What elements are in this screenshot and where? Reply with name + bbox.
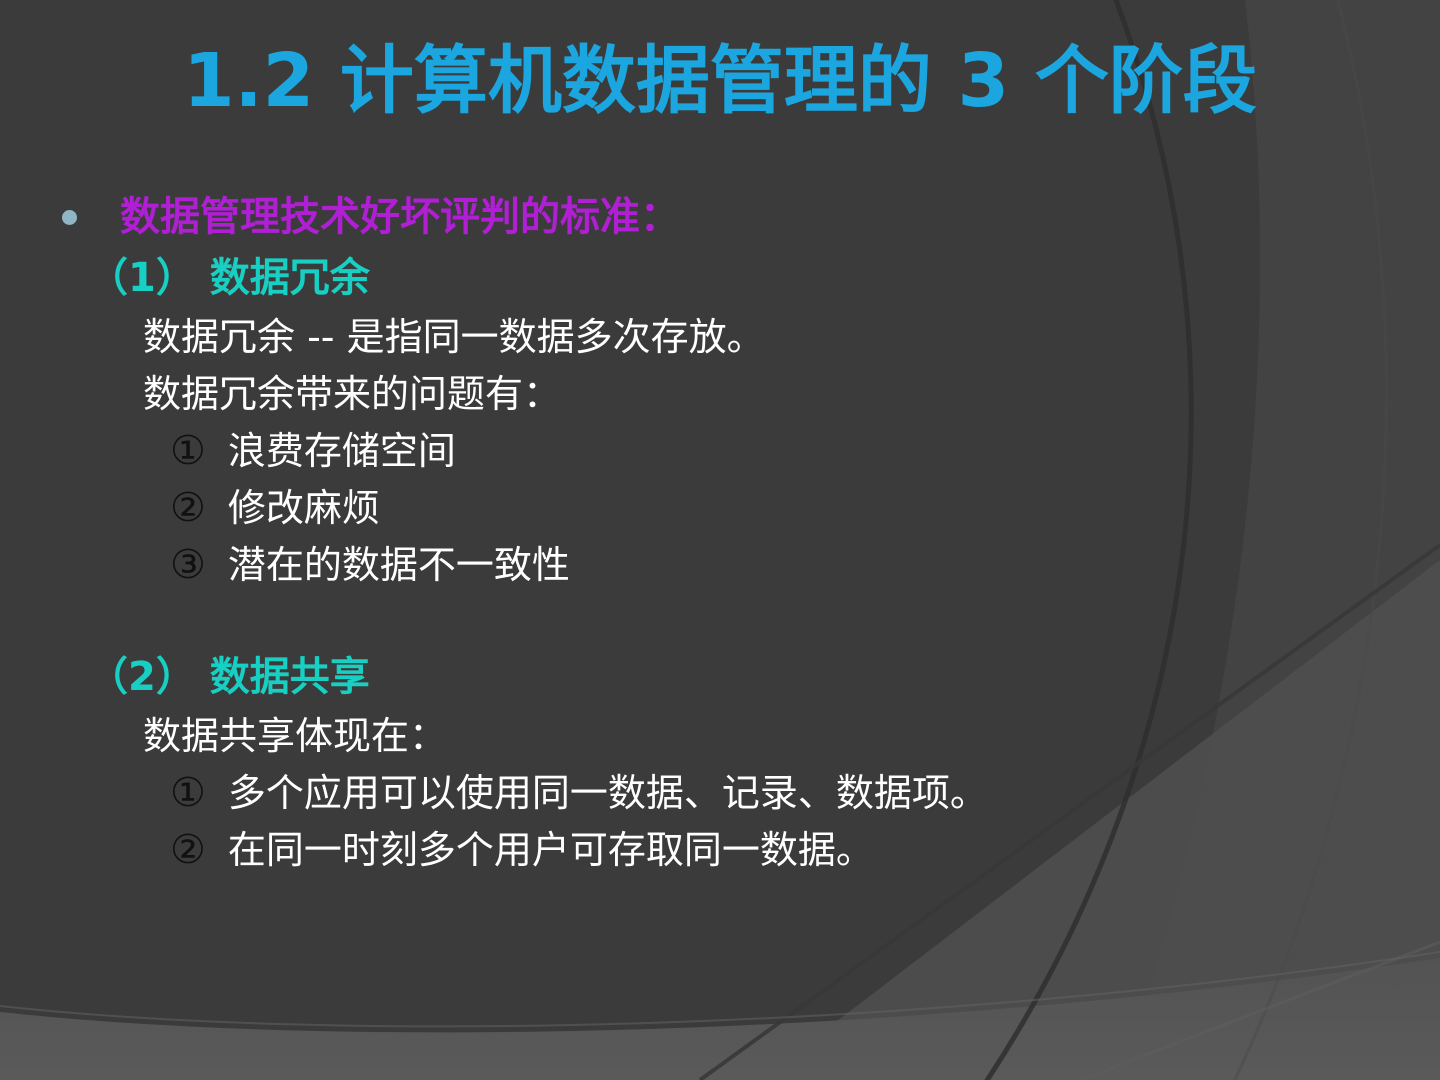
list-item-text: 在同一时刻多个用户可存取同一数据。 (228, 831, 874, 869)
section-heading-1-text: （1） 数据冗余 (88, 258, 370, 298)
page-title: 1.2 计算机数据管理的 3 个阶段 (0, 44, 1440, 118)
section-heading-1: （1） 数据冗余 (0, 248, 1440, 308)
section-1-paragraph-2: 数据冗余带来的问题有： (0, 365, 1440, 422)
list-item-text: 浪费存储空间 (228, 432, 456, 470)
section-1-paragraph-2-text: 数据冗余带来的问题有： (143, 375, 561, 413)
list-item-text: 潜在的数据不一致性 (228, 546, 570, 584)
section-2-paragraph-1: 数据共享体现在： (0, 707, 1440, 764)
bullet-heading-line: 数据管理技术好坏评判的标准： (0, 186, 1440, 248)
list-item: ③ 潜在的数据不一致性 (0, 536, 1440, 593)
circled-number-1-icon: ① (170, 431, 206, 471)
list-item: ① 多个应用可以使用同一数据、记录、数据项。 (0, 764, 1440, 821)
circled-number-3-icon: ③ (170, 545, 206, 585)
section-1-paragraph-1-text: 数据冗余 -- 是指同一数据多次存放。 (143, 318, 765, 356)
paragraph-spacer (0, 593, 1440, 647)
section-heading-2-text: （2） 数据共享 (88, 657, 370, 697)
list-item-text: 修改麻烦 (228, 489, 380, 527)
list-item: ① 浪费存储空间 (0, 422, 1440, 479)
circled-number-2-icon: ② (170, 488, 206, 528)
list-item: ② 修改麻烦 (0, 479, 1440, 536)
bullet-heading-text: 数据管理技术好坏评判的标准： (120, 197, 680, 237)
section-1-paragraph-1: 数据冗余 -- 是指同一数据多次存放。 (0, 308, 1440, 365)
slide-body: 数据管理技术好坏评判的标准： （1） 数据冗余 数据冗余 -- 是指同一数据多次… (0, 186, 1440, 878)
slide-canvas: 1.2 计算机数据管理的 3 个阶段 数据管理技术好坏评判的标准： （1） 数据… (0, 0, 1440, 1080)
circled-number-1-icon: ① (170, 773, 206, 813)
section-2-paragraph-1-text: 数据共享体现在： (143, 717, 447, 755)
bullet-dot-icon (62, 210, 77, 225)
circled-number-2-icon: ② (170, 830, 206, 870)
section-heading-2: （2） 数据共享 (0, 647, 1440, 707)
list-item: ② 在同一时刻多个用户可存取同一数据。 (0, 821, 1440, 878)
list-item-text: 多个应用可以使用同一数据、记录、数据项。 (228, 774, 988, 812)
